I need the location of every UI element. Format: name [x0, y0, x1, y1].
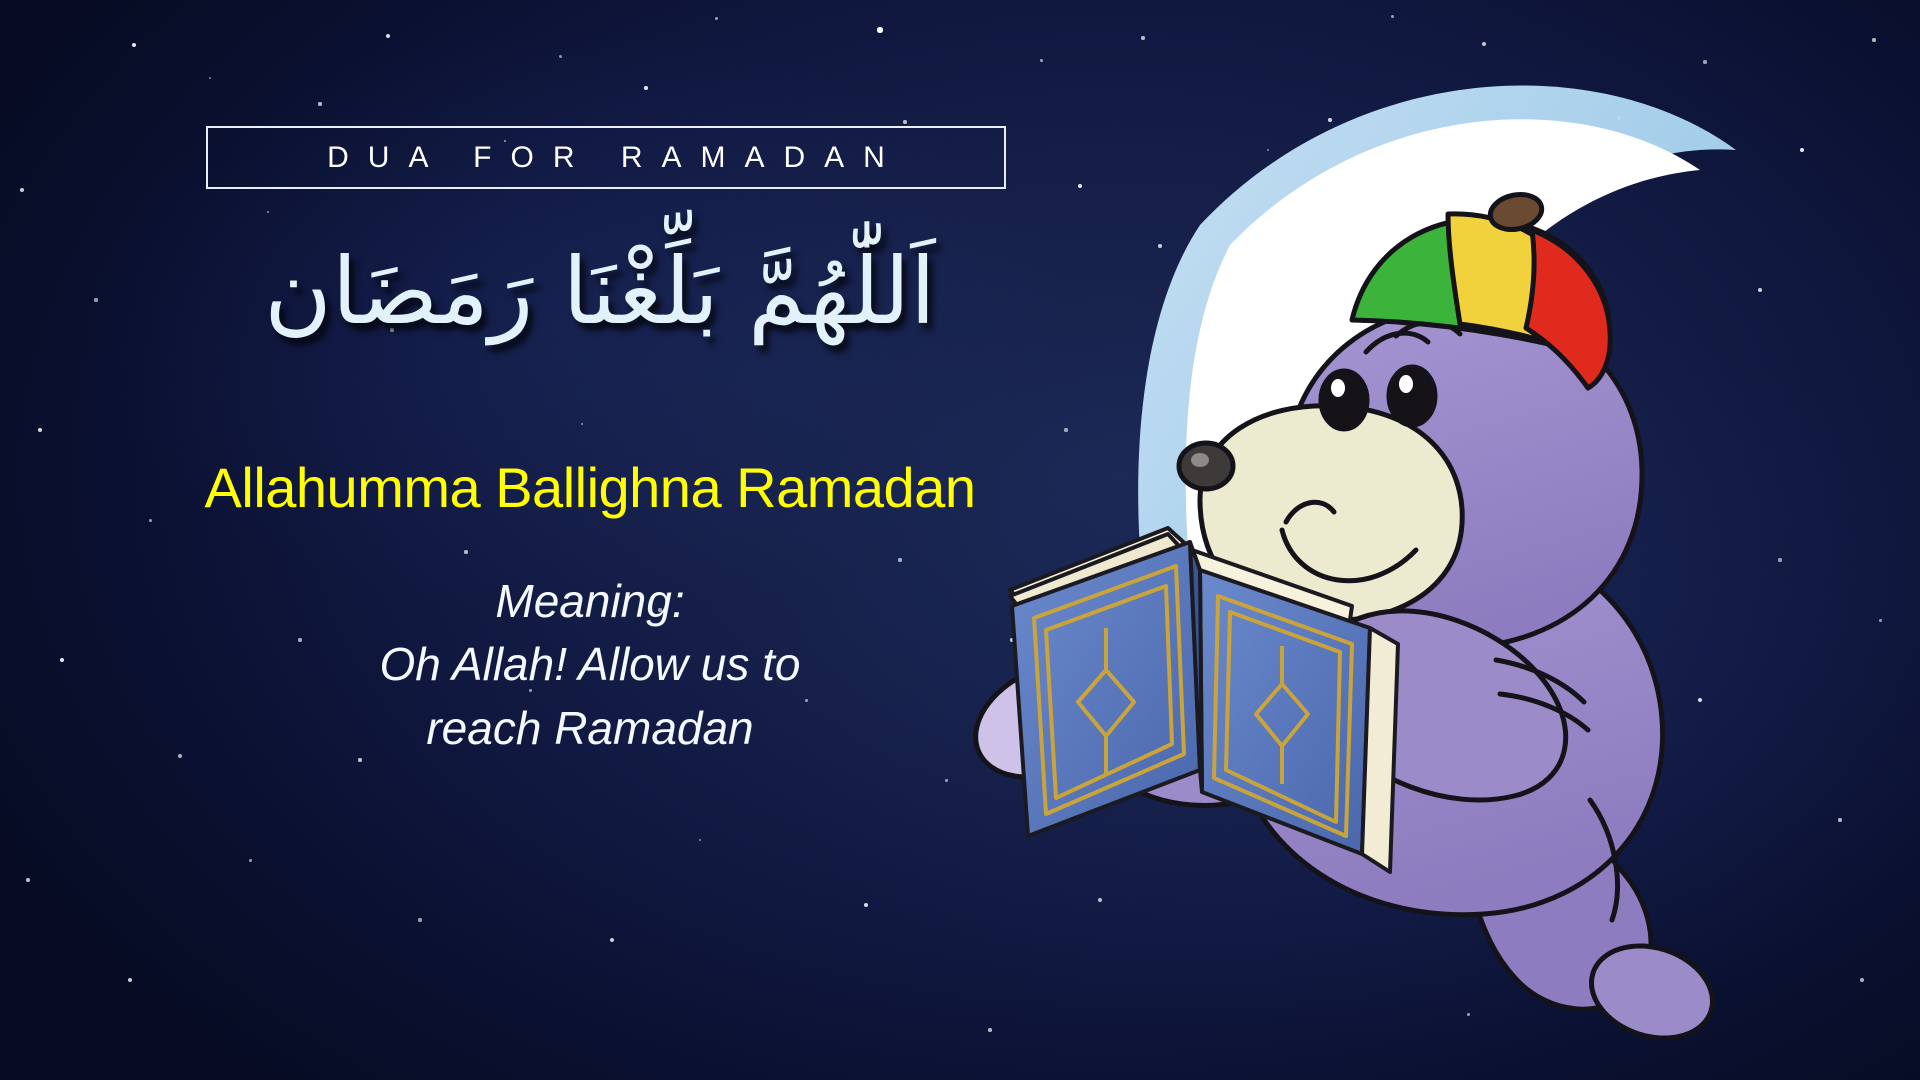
star-dot — [581, 423, 584, 426]
book-edge-right — [1362, 628, 1398, 872]
dua-title-label: DUA FOR RAMADAN — [308, 141, 904, 175]
bear-eye-left-glint — [1331, 379, 1345, 397]
star-dot — [559, 55, 562, 58]
bear-eye-right-glint — [1399, 375, 1413, 393]
star-dot — [699, 839, 702, 842]
star-dot — [94, 298, 97, 301]
star-dot — [20, 188, 24, 192]
meaning-line-1: Oh Allah! Allow us to — [180, 633, 1000, 696]
star-dot — [26, 878, 30, 882]
star-dot — [267, 211, 270, 214]
bear-nose — [1179, 443, 1233, 489]
meaning-line-2: reach Ramadan — [180, 697, 1000, 760]
star-dot — [38, 428, 42, 432]
illustration-bear-on-moon — [900, 30, 1920, 1070]
star-dot — [1391, 15, 1394, 18]
star-dot — [644, 86, 648, 90]
bear-eye-left — [1321, 371, 1367, 429]
meaning-label: Meaning: — [180, 570, 1000, 633]
poster-canvas: DUA FOR RAMADAN اَللّٰهُمَّ بَلِّغْنَا ر… — [0, 0, 1920, 1080]
star-dot — [715, 17, 718, 20]
star-dot — [386, 34, 390, 38]
star-dot — [249, 859, 252, 862]
dua-title-badge: DUA FOR RAMADAN — [206, 126, 1006, 189]
star-dot — [132, 43, 137, 48]
bear-nose-highlight — [1191, 453, 1209, 467]
star-dot — [128, 978, 132, 982]
star-dot — [318, 102, 321, 105]
star-dot — [877, 27, 882, 32]
meaning-block: Meaning: Oh Allah! Allow us to reach Ram… — [180, 570, 1000, 760]
star-dot — [864, 903, 868, 907]
star-dot — [60, 658, 65, 663]
star-dot — [464, 550, 468, 554]
star-dot — [209, 77, 212, 80]
star-dot — [418, 918, 421, 921]
star-dot — [610, 938, 614, 942]
bear-eye-right — [1389, 367, 1435, 425]
